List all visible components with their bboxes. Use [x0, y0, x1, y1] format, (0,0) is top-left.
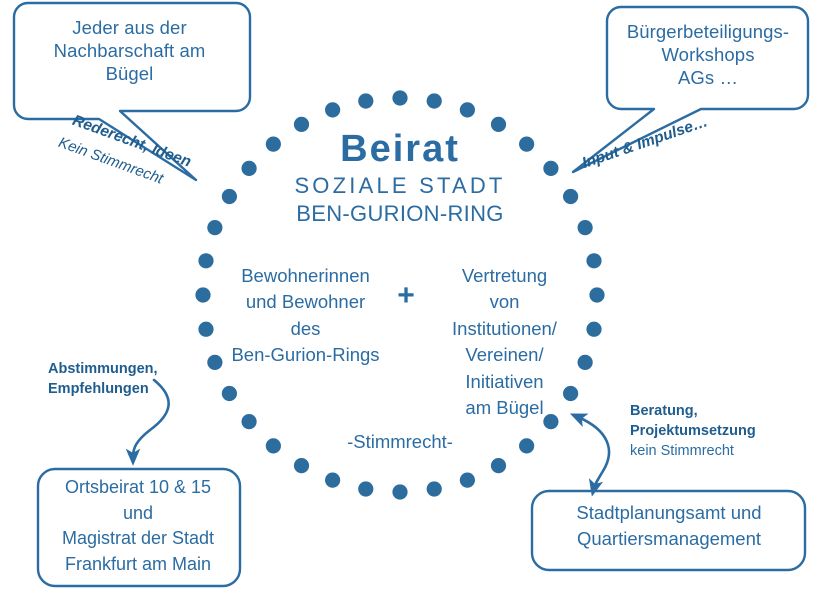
col-left-line-4: Ben-Gurion-Rings [218, 342, 393, 368]
annotation-abstimmungen: Abstimmungen, Empfehlungen [48, 360, 158, 399]
ring-dot [325, 473, 340, 488]
voting-rights-note: -Stimmrecht- [320, 430, 480, 453]
annotation-abstimmungen-line-2: Empfehlungen [48, 380, 158, 400]
bubble-tr-line-1: Bürgerbeteiligungs- [612, 20, 804, 43]
ring-dot [586, 253, 601, 268]
col-right-line-4: Vereinen/ [427, 342, 582, 368]
ring-dot [589, 287, 604, 302]
ring-dot [427, 93, 442, 108]
bubble-tr-line-3: AGs … [612, 66, 804, 89]
box-bl-line-1: Ortsbeirat 10 & 15 [40, 475, 236, 501]
ring-dot [294, 458, 309, 473]
annotation-abstimmungen-line-1: Abstimmungen, [48, 360, 158, 380]
subtitle-soziale-stadt: SOZIALE STADT [230, 172, 570, 200]
box-bl-line-4: Frankfurt am Main [40, 552, 236, 578]
ring-dot [491, 458, 506, 473]
plus-symbol: + [391, 277, 421, 315]
ring-dot [427, 481, 442, 496]
box-bl-line-2: und [40, 501, 236, 527]
col-right-line-1: Vertretung [427, 263, 582, 289]
bubble-tl-line-2: Nachbarschaft am [22, 39, 237, 62]
ring-dot [241, 414, 256, 429]
double-arrow-icon [578, 417, 609, 488]
bubble-top-left-text: Jeder aus der Nachbarschaft am Bügel [22, 16, 237, 85]
ring-dot [198, 253, 213, 268]
ring-dot [460, 102, 475, 117]
annotation-beratung-line-1: Beratung, [630, 402, 756, 422]
box-br-line-1: Stadtplanungsamt und [534, 500, 804, 526]
col-right-line-5: Initiativen [427, 369, 582, 395]
box-ortsbeirat-text: Ortsbeirat 10 & 15 und Magistrat der Sta… [40, 475, 236, 577]
diagram-canvas: Jeder aus der Nachbarschaft am Bügel Bür… [0, 0, 820, 600]
center-column-right: Vertretung von Institutionen/ Vereinen/ … [427, 263, 582, 422]
ring-dot [195, 287, 210, 302]
annotation-kein-stimmrecht-bottom: kein Stimmrecht [630, 442, 734, 462]
ring-dot [222, 386, 237, 401]
ring-dot [207, 220, 222, 235]
ring-dot [578, 220, 593, 235]
col-left-line-1: Bewohnerinnen [218, 263, 393, 289]
ring-dot [392, 90, 407, 105]
ring-dot [358, 481, 373, 496]
bubble-tl-line-3: Bügel [22, 62, 237, 85]
ring-dot [519, 438, 534, 453]
col-right-line-3: Institutionen/ [427, 316, 582, 342]
bubble-top-right-text: Bürgerbeteiligungs- Workshops AGs … [612, 20, 804, 89]
box-stadtplanungsamt-text: Stadtplanungsamt und Quartiersmanagement [534, 500, 804, 553]
ring-dot [586, 322, 601, 337]
ring-dot [460, 473, 475, 488]
annotation-beratung: Beratung, Projektumsetzung [630, 402, 756, 441]
ring-dot [325, 102, 340, 117]
subtitle-ben-gurion-ring: BEN-GURION-RING [230, 200, 570, 228]
bubble-tl-line-1: Jeder aus der [22, 16, 237, 39]
col-right-line-6: am Bügel [427, 395, 582, 421]
page-title: Beirat [250, 126, 550, 174]
col-left-line-2: und Bewohner [218, 289, 393, 315]
annotation-beratung-line-2: Projektumsetzung [630, 422, 756, 442]
col-left-line-3: des [218, 316, 393, 342]
bubble-tr-line-2: Workshops [612, 43, 804, 66]
col-right-line-2: von [427, 289, 582, 315]
ring-dot [392, 484, 407, 499]
box-bl-line-3: Magistrat der Stadt [40, 526, 236, 552]
ring-dot [358, 93, 373, 108]
box-br-line-2: Quartiersmanagement [534, 526, 804, 552]
center-column-left: Bewohnerinnen und Bewohner des Ben-Gurio… [218, 263, 393, 369]
ring-dot [266, 438, 281, 453]
ring-dot [198, 322, 213, 337]
